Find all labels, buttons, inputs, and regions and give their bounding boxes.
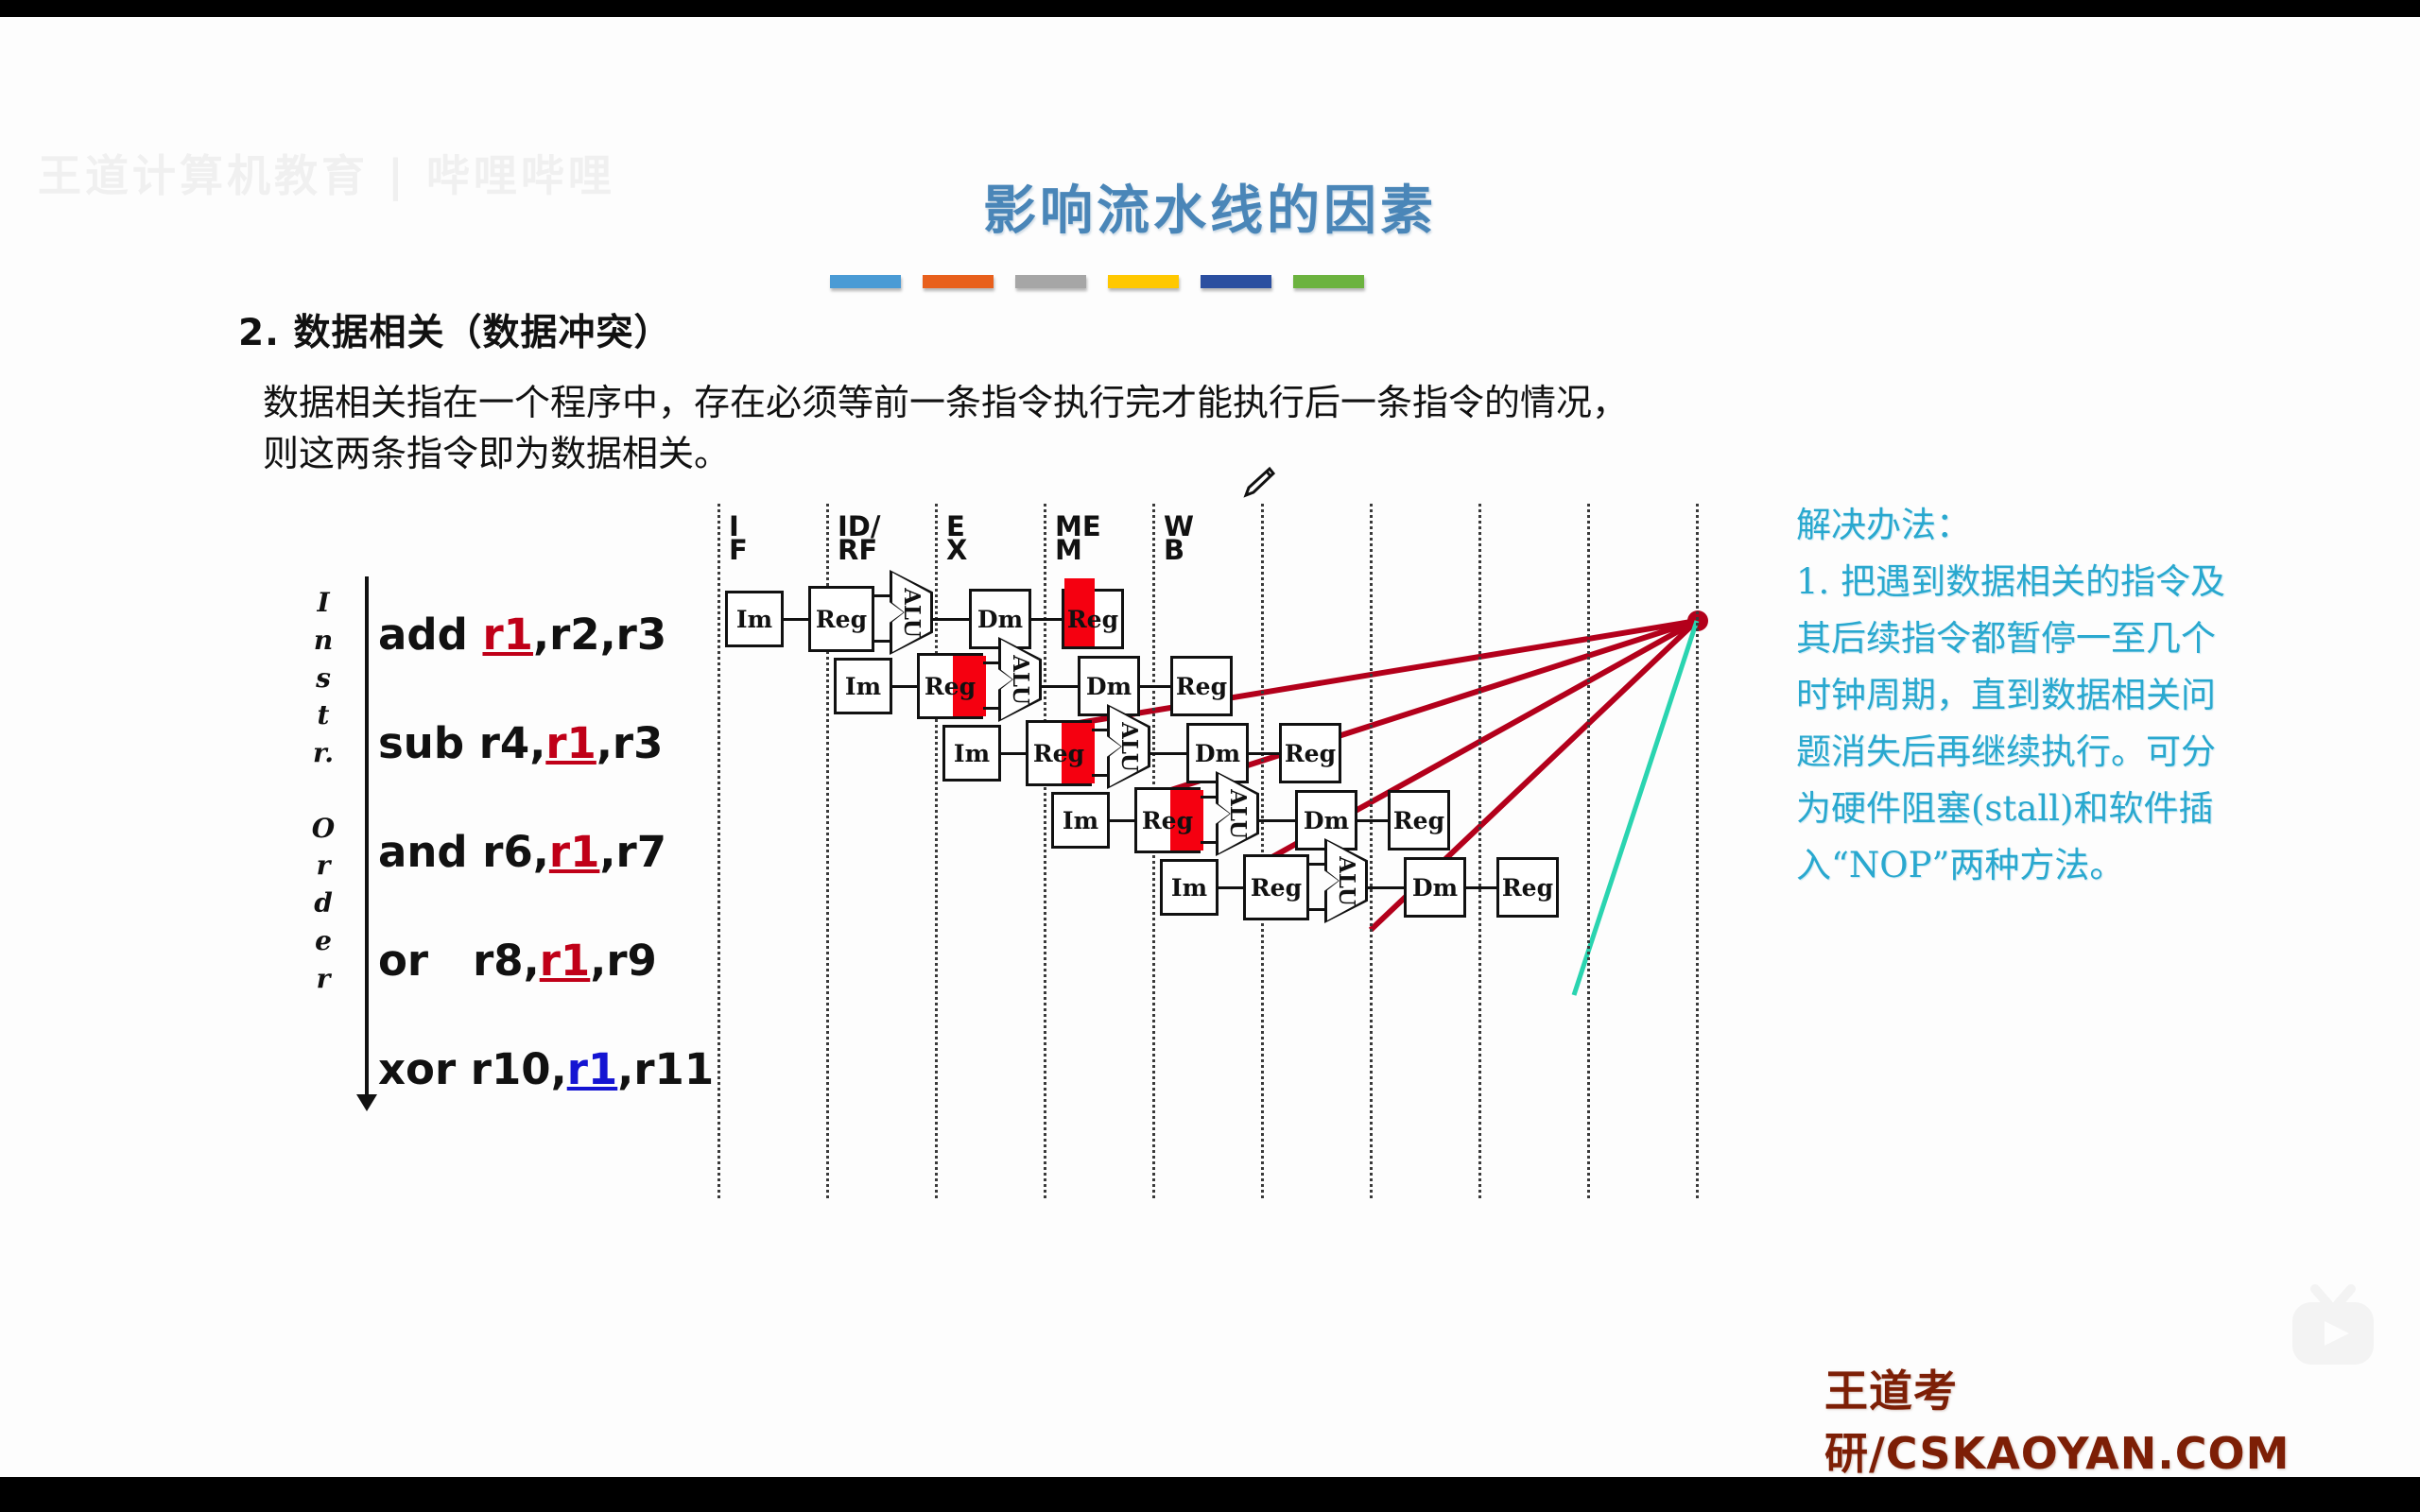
bar-yellow bbox=[1108, 275, 1179, 288]
instruction-operands-1: ,r3 bbox=[596, 718, 664, 768]
solution-line-4: 为硬件阻塞(stall)和软件插 bbox=[1796, 781, 2373, 837]
instr-order-char-7: r bbox=[304, 847, 342, 885]
pencil-cursor-icon bbox=[1240, 463, 1278, 506]
wire-im-reg-row3 bbox=[1110, 819, 1134, 822]
instruction-row-2: and r6,r1,r7 bbox=[378, 798, 714, 906]
pipeline-reg-id-row2: Reg bbox=[1026, 720, 1092, 786]
instruction-row-4: xor r10,r1,r11 bbox=[378, 1015, 714, 1124]
pipeline-reg-label-row0: Reg bbox=[816, 606, 867, 633]
instruction-opcode-3: or r8, bbox=[378, 936, 540, 986]
wire-dm-reg-row1 bbox=[1140, 685, 1170, 688]
pipeline-reg-label-row4: Reg bbox=[1251, 874, 1302, 902]
wire-im-reg-row2 bbox=[1001, 752, 1026, 755]
instr-order-char-3: t bbox=[304, 696, 342, 734]
pipeline-reg-id-row4: Reg bbox=[1243, 854, 1309, 920]
instruction-operands-4: ,r11 bbox=[617, 1044, 714, 1094]
pipeline-stage-header-wb: W B bbox=[1164, 515, 1194, 562]
pipeline-reg-id-row3: Reg bbox=[1134, 787, 1201, 853]
pipeline-diagram: I FID/ RFE XME MW BImRegALUDmRegImRegALU… bbox=[704, 504, 1735, 1198]
wire-dm-reg-row2 bbox=[1249, 752, 1279, 755]
instruction-hazard-reg-4: r1 bbox=[567, 1044, 618, 1094]
stage-divider-0 bbox=[717, 504, 720, 1198]
solution-line-2: 时钟周期，直到数据相关问 bbox=[1796, 667, 2373, 724]
pipeline-im-row2: Im bbox=[942, 725, 1001, 782]
body-paragraph: 数据相关指在一个程序中，存在必须等前一条指令执行完才能执行后一条指令的情况， 则… bbox=[263, 378, 1737, 480]
instr-order-arrow bbox=[365, 576, 369, 1094]
instr-order-char-0: I bbox=[304, 584, 342, 622]
instruction-hazard-reg-2: r1 bbox=[549, 827, 600, 877]
solution-line-1: 其后续指令都暂停一至几个 bbox=[1796, 610, 2373, 667]
decorative-color-bars bbox=[830, 275, 1364, 288]
solution-line-0: 1. 把遇到数据相关的指令及 bbox=[1796, 554, 2373, 610]
stage-divider-3 bbox=[1044, 504, 1046, 1198]
pipeline-stage-header-mem: ME M bbox=[1055, 515, 1101, 562]
wire-im-reg-row0 bbox=[784, 618, 808, 621]
instr-order-char-2: s bbox=[304, 660, 342, 697]
instruction-opcode-4: xor r10, bbox=[378, 1044, 567, 1094]
instruction-opcode-2: and r6, bbox=[378, 827, 549, 877]
pipeline-reg-id-row1: Reg bbox=[917, 653, 983, 719]
pipeline-stage-header-ex: E X bbox=[946, 515, 967, 562]
pipeline-reg-wb-row3: Reg bbox=[1388, 790, 1450, 850]
pipeline-reg-wb-row2: Reg bbox=[1279, 723, 1341, 783]
wire-alu-dm-row4 bbox=[1368, 886, 1404, 889]
bar-darkblue bbox=[1201, 275, 1271, 288]
pipeline-dm-row4: Dm bbox=[1404, 857, 1466, 918]
wire-alu-dm-row2 bbox=[1150, 752, 1186, 755]
solution-title: 解决办法： bbox=[1796, 497, 2373, 554]
section-heading: 2. 数据相关（数据冲突） bbox=[238, 303, 672, 356]
bar-gray bbox=[1015, 275, 1086, 288]
solution-panel: 解决办法： 1. 把遇到数据相关的指令及 其后续指令都暂停一至几个 时钟周期，直… bbox=[1796, 497, 2373, 894]
pipeline-reg-label-row3: Reg bbox=[1142, 807, 1193, 834]
pipeline-im-row0: Im bbox=[725, 591, 784, 647]
instruction-operands-3: ,r9 bbox=[590, 936, 657, 986]
pipeline-wb-label-row2: Reg bbox=[1285, 740, 1336, 767]
pipeline-im-row4: Im bbox=[1160, 859, 1219, 916]
wire-dm-reg-row4 bbox=[1466, 886, 1496, 889]
instruction-opcode-1: sub r4, bbox=[378, 718, 545, 768]
wire-reg-alu-top-row3 bbox=[1201, 796, 1218, 799]
instruction-list: add r1,r2,r3sub r4,r1,r3and r6,r1,r7or r… bbox=[378, 580, 714, 1124]
pipeline-reg-label-row2: Reg bbox=[1033, 740, 1084, 767]
instr-order-char-1: n bbox=[304, 622, 342, 660]
instr-order-char-8: d bbox=[304, 885, 342, 922]
instr-order-char-9: e bbox=[304, 922, 342, 960]
pipeline-wb-label-row0: Reg bbox=[1067, 606, 1118, 633]
stage-divider-7 bbox=[1478, 504, 1481, 1198]
instruction-hazard-reg-3: r1 bbox=[540, 936, 591, 986]
pipeline-reg-label-row1: Reg bbox=[925, 673, 976, 700]
pipeline-stage-header-id-rf: ID/ RF bbox=[838, 515, 880, 562]
wire-dm-reg-row0 bbox=[1031, 618, 1062, 621]
instruction-operands-0: ,r2,r3 bbox=[533, 610, 666, 660]
pipeline-wb-label-row1: Reg bbox=[1176, 673, 1227, 700]
instruction-hazard-reg-0: r1 bbox=[482, 610, 533, 660]
solution-line-3: 题消失后再继续执行。可分 bbox=[1796, 724, 2373, 781]
paragraph-line-2: 则这两条指令即为数据相关。 bbox=[263, 429, 1737, 480]
wire-reg-alu-top-row0 bbox=[874, 594, 891, 597]
instruction-row-0: add r1,r2,r3 bbox=[378, 580, 714, 689]
wire-im-reg-row4 bbox=[1219, 886, 1243, 889]
wire-reg-alu-bot-row2 bbox=[1092, 774, 1109, 777]
stage-divider-2 bbox=[935, 504, 938, 1198]
wire-reg-alu-bot-row3 bbox=[1201, 841, 1218, 844]
paragraph-line-1: 数据相关指在一个程序中，存在必须等前一条指令执行完才能执行后一条指令的情况， bbox=[263, 382, 1628, 423]
pipeline-wb-label-row3: Reg bbox=[1393, 807, 1444, 834]
wire-dm-reg-row3 bbox=[1357, 819, 1388, 822]
bilibili-play-icon bbox=[2281, 1281, 2385, 1376]
stage-divider-9 bbox=[1696, 504, 1699, 1198]
stage-divider-8 bbox=[1587, 504, 1590, 1198]
pipeline-stage-header-if: I F bbox=[729, 515, 748, 562]
wire-reg-alu-top-row4 bbox=[1309, 863, 1326, 866]
pipeline-reg-id-row0: Reg bbox=[808, 586, 874, 652]
pipeline-reg-wb-row1: Reg bbox=[1170, 656, 1233, 716]
wire-alu-dm-row3 bbox=[1259, 819, 1295, 822]
solution-line-5: 入“NOP”两种方法。 bbox=[1796, 837, 2373, 894]
instr-order-char-4: r. bbox=[304, 734, 342, 772]
instruction-row-3: or r8,r1,r9 bbox=[378, 906, 714, 1015]
stage-divider-5 bbox=[1261, 504, 1264, 1198]
instr-order-char-10: r bbox=[304, 960, 342, 998]
pipeline-reg-wb-row4: Reg bbox=[1496, 857, 1559, 918]
instr-order-char-5 bbox=[304, 772, 342, 810]
bar-green bbox=[1293, 275, 1364, 288]
wire-im-reg-row1 bbox=[892, 685, 917, 688]
bar-blue bbox=[830, 275, 901, 288]
bar-orange bbox=[923, 275, 994, 288]
wire-alu-dm-row1 bbox=[1042, 685, 1078, 688]
wire-reg-alu-top-row2 bbox=[1092, 729, 1109, 731]
page-title: 影响流水线的因素 bbox=[0, 168, 2420, 245]
slide-canvas: 王道计算机教育 | 哔哩哔哩 影响流水线的因素 2. 数据相关（数据冲突） 数据… bbox=[0, 17, 2420, 1477]
wire-reg-alu-bot-row0 bbox=[874, 640, 891, 643]
pipeline-im-row1: Im bbox=[834, 658, 892, 714]
pipeline-wb-label-row4: Reg bbox=[1502, 874, 1553, 902]
instruction-operands-2: ,r7 bbox=[599, 827, 666, 877]
pipeline-reg-wb-row0: Reg bbox=[1062, 589, 1124, 649]
wire-alu-dm-row0 bbox=[933, 618, 969, 621]
instruction-row-1: sub r4,r1,r3 bbox=[378, 689, 714, 798]
instr-order-char-6: O bbox=[304, 810, 342, 848]
wire-reg-alu-bot-row4 bbox=[1309, 908, 1326, 911]
pipeline-im-row3: Im bbox=[1051, 792, 1110, 849]
instruction-opcode-0: add bbox=[378, 610, 482, 660]
wire-reg-alu-top-row1 bbox=[983, 661, 1000, 664]
instr-order-label: Instr. Order bbox=[304, 584, 342, 997]
wire-reg-alu-bot-row1 bbox=[983, 707, 1000, 710]
stage-divider-6 bbox=[1370, 504, 1373, 1198]
instruction-hazard-reg-1: r1 bbox=[545, 718, 596, 768]
